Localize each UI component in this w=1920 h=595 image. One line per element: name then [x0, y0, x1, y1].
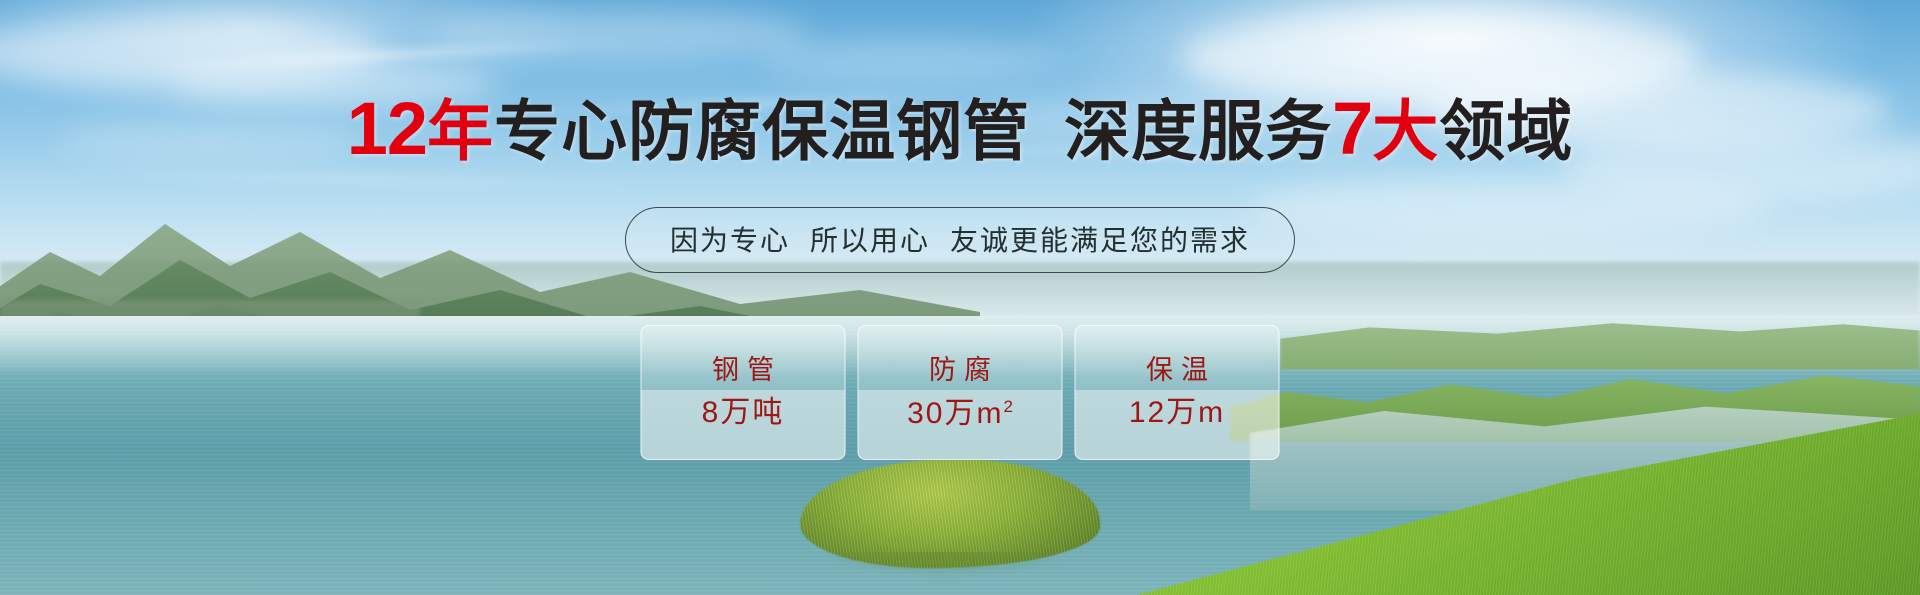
stat-card-value-text: 8万吨 [702, 396, 785, 429]
stat-card-steel-pipe: 钢管 8万吨 [641, 325, 846, 460]
headline-main-text: 专心防腐保温钢管 [494, 94, 1030, 168]
stat-card-title: 防腐 [921, 357, 999, 384]
stat-card-value: 8万吨 [702, 398, 785, 428]
stat-card-anticorrosion: 防腐 30万m2 [858, 325, 1063, 460]
subtitle-part-1: 因为专心 [670, 225, 790, 256]
headline-fields-unit: 大 [1372, 94, 1439, 168]
stat-card-value-text: 30万m [907, 397, 1003, 430]
stat-card-group: 钢管 8万吨 防腐 30万m2 保温 12万m [641, 325, 1280, 460]
headline-fields-number: 7 [1332, 87, 1372, 170]
subtitle-pill: 因为专心所以用心友诚更能满足您的需求 [625, 207, 1295, 273]
banner-content: 12年专心防腐保温钢管深度服务7大领域 因为专心所以用心友诚更能满足您的需求 钢… [0, 0, 1920, 595]
stat-card-value-text: 12万m [1129, 396, 1225, 429]
stat-card-insulation: 保温 12万m [1075, 325, 1280, 460]
headline-years-unit: 年 [427, 94, 494, 168]
banner-headline: 12年专心防腐保温钢管深度服务7大领域 [0, 92, 1920, 166]
headline-fields-text: 领域 [1439, 94, 1573, 168]
subtitle-part-2: 所以用心 [810, 225, 930, 256]
stat-card-value: 12万m [1129, 398, 1225, 428]
headline-service-text: 深度服务 [1064, 94, 1332, 168]
stat-card-value: 30万m2 [907, 398, 1013, 429]
subtitle-part-3: 友诚更能满足您的需求 [950, 225, 1250, 256]
headline-years-number: 12 [347, 87, 427, 170]
stat-card-title: 钢管 [704, 357, 782, 384]
hero-banner: 12年专心防腐保温钢管深度服务7大领域 因为专心所以用心友诚更能满足您的需求 钢… [0, 0, 1920, 595]
stat-card-title: 保温 [1138, 357, 1216, 384]
stat-card-value-superscript: 2 [1003, 397, 1012, 416]
